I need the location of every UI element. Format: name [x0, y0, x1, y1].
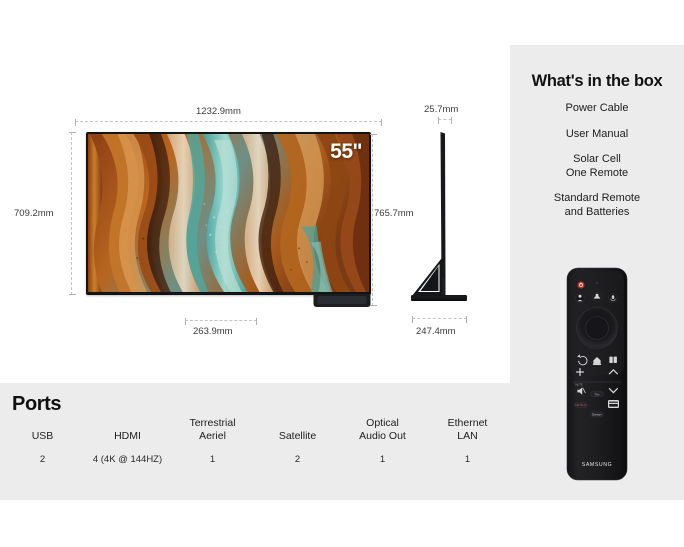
- box-item-line1: User Manual: [566, 128, 628, 140]
- port-column-satellite: Satellite 2: [255, 415, 340, 465]
- port-label-line1: Ethernet: [425, 417, 510, 430]
- stand-width-dimension-line: [185, 320, 257, 322]
- tv-stand-pedestal: [314, 294, 371, 307]
- port-label: USB: [0, 417, 85, 443]
- ports-panel: Ports USB 2 HDMI 4 (4K @ 144HZ) Terrestr…: [0, 383, 510, 500]
- port-column-optical-audio-out: Optical Audio Out 1: [340, 415, 425, 465]
- box-item-line2: and Batteries: [510, 206, 684, 220]
- port-label: Ethernet LAN: [425, 417, 510, 443]
- tv-front-view: 55": [86, 132, 371, 295]
- port-label: Terrestrial Aeriel: [170, 417, 255, 443]
- stand-width-label: 263.9mm: [193, 326, 233, 337]
- remote-control: MUTE TV+ NETFLIX Disney+ SAMSUNG: [566, 267, 628, 481]
- port-label-line1: HDMI: [85, 430, 170, 443]
- side-depth-label: 25.7mm: [424, 104, 458, 115]
- port-label: Satellite: [255, 417, 340, 443]
- front-width-label: 1232.9mm: [196, 106, 241, 117]
- box-item-line1: Standard Remote: [554, 192, 640, 204]
- box-item-line1: Power Cable: [566, 102, 629, 114]
- front-height-dimension-line: [71, 132, 73, 295]
- svg-text:MUTE: MUTE: [575, 382, 583, 386]
- port-label-line1: Optical: [340, 417, 425, 430]
- whats-in-the-box-list: Power Cable User Manual Solar Cell One R…: [510, 102, 684, 231]
- list-item: Power Cable: [510, 102, 684, 116]
- port-label: Optical Audio Out: [340, 417, 425, 443]
- svg-text:TV+: TV+: [594, 392, 600, 396]
- remote-brand-label: SAMSUNG: [582, 462, 612, 468]
- front-width-dimension-line: [75, 121, 382, 123]
- port-value: 2: [0, 454, 85, 465]
- list-item: Standard Remote and Batteries: [510, 192, 684, 219]
- ports-title: Ports: [12, 393, 61, 416]
- port-column-terrestrial-aeriel: Terrestrial Aeriel 1: [170, 415, 255, 465]
- port-value: 2: [255, 454, 340, 465]
- port-column-usb: USB 2: [0, 415, 85, 465]
- port-label-line2: Aeriel: [170, 430, 255, 443]
- tv-side-view: [402, 130, 482, 310]
- port-label: HDMI: [85, 417, 170, 443]
- port-value: 1: [425, 454, 510, 465]
- port-value: 4 (4K @ 144HZ): [85, 454, 170, 465]
- port-label-line2: LAN: [425, 430, 510, 443]
- port-value: 1: [170, 454, 255, 465]
- ports-grid: USB 2 HDMI 4 (4K @ 144HZ) Terrestrial Ae…: [0, 415, 510, 465]
- screen-size-badge: 55": [330, 140, 362, 164]
- port-label-line1: Terrestrial: [170, 417, 255, 430]
- whats-in-the-box-title: What's in the box: [510, 72, 684, 91]
- port-value: 1: [340, 454, 425, 465]
- side-height-label: 765.7mm: [374, 208, 414, 219]
- port-column-ethernet-lan: Ethernet LAN 1: [425, 415, 510, 465]
- side-height-dimension-line: [372, 134, 374, 306]
- port-label-line2: Audio Out: [340, 430, 425, 443]
- svg-text:NETFLIX: NETFLIX: [575, 403, 586, 407]
- base-depth-dimension-line: [412, 318, 467, 320]
- port-label-line1: Satellite: [255, 430, 340, 443]
- svg-text:Disney+: Disney+: [592, 413, 602, 417]
- port-column-hdmi: HDMI 4 (4K @ 144HZ): [85, 415, 170, 465]
- tv-screen: [88, 134, 369, 292]
- box-item-line1: Solar Cell: [573, 153, 621, 165]
- list-item: User Manual: [510, 128, 684, 142]
- port-label-line1: USB: [0, 430, 85, 443]
- list-item: Solar Cell One Remote: [510, 153, 684, 180]
- base-depth-label: 247.4mm: [416, 326, 456, 337]
- side-depth-dimension-line: [438, 119, 452, 121]
- front-height-label: 709.2mm: [14, 208, 54, 219]
- box-item-line2: One Remote: [510, 167, 684, 181]
